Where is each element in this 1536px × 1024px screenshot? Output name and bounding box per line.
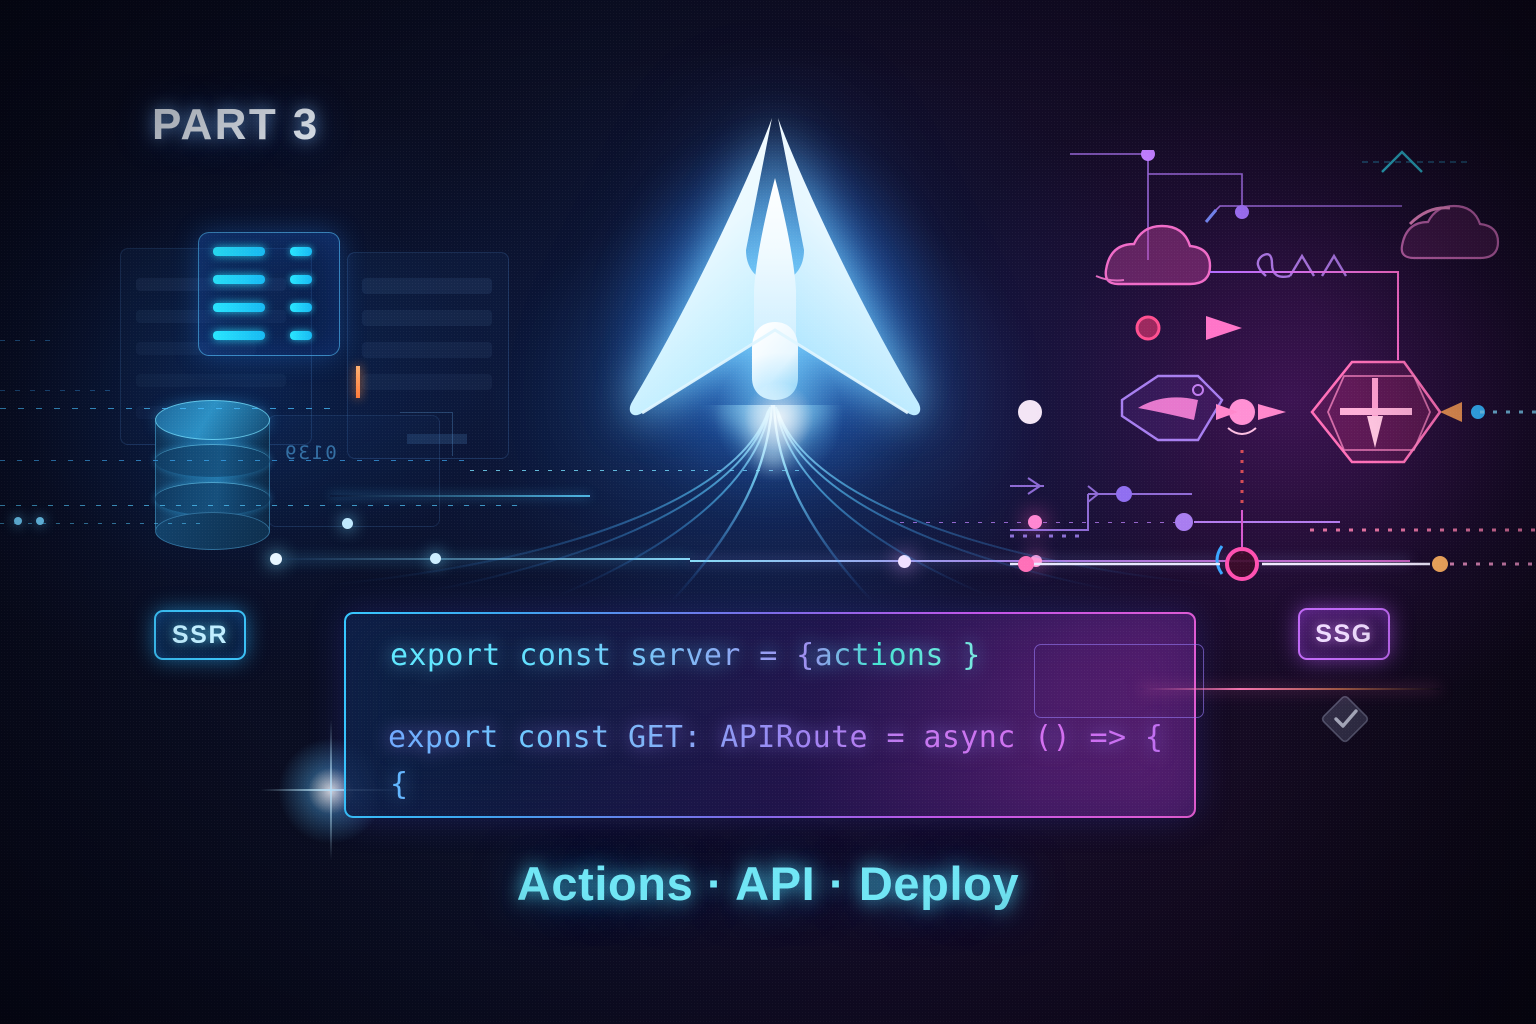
hero-illustration: 0139: [0, 0, 1536, 1024]
vignette: [0, 0, 1536, 1024]
